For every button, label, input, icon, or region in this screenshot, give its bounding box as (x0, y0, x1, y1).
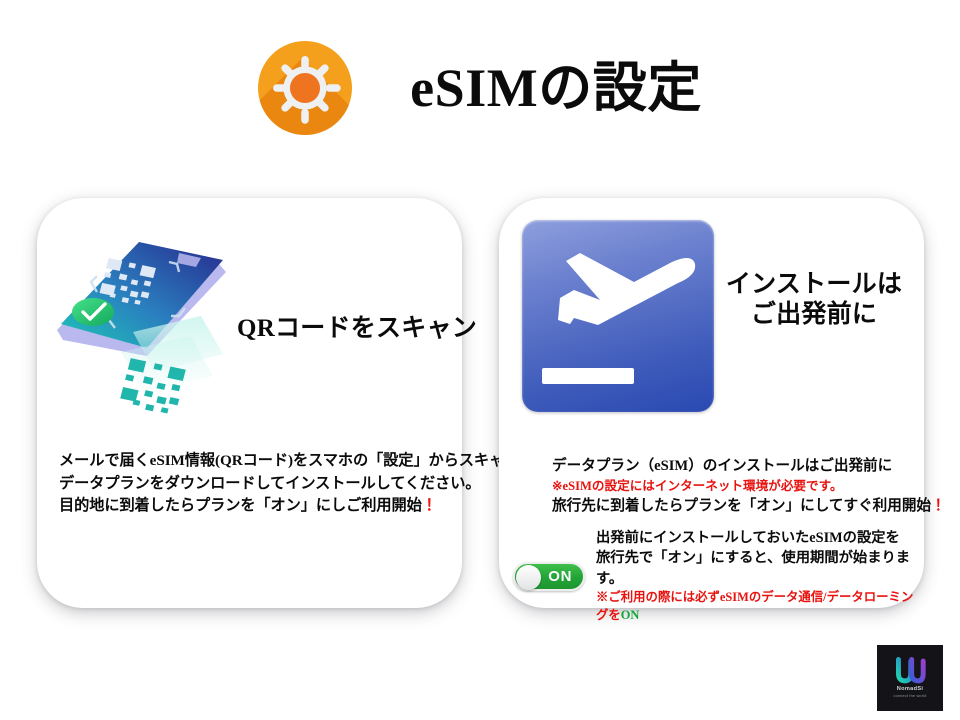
toggle-description-line-1: 出発前にインストールしておいたeSIMの設定を (596, 528, 918, 548)
brand-logo-mark (893, 657, 927, 685)
card-qr-scan-body-line-1: メールで届くeSIM情報(QRコード)をスマホの「設定」からスキャンし、 (59, 450, 459, 473)
card-qr-scan-top: QRコードをスキャン (37, 198, 462, 450)
slide-header: eSIMの設定 (0, 32, 960, 144)
brand-logo-name: NomadSi (897, 687, 924, 693)
card-qr-scan-heading: QRコードをスキャン (237, 314, 457, 344)
card-install-body-line-3: 旅行先に到着したらプランを「オン」にしてすぐ利用開始！ (552, 496, 922, 517)
card-qr-scan-body-line-3: 目的地に到着したらプランを「オン」にしご利用開始！ (59, 495, 459, 518)
card-install-top: インストールは ご出発前に (499, 198, 924, 450)
card-qr-scan-body-line-3-text: 目的地に到着したらプランを「オン」にしご利用開始 (59, 497, 422, 514)
toggle-description-note-text: ※ご利用の際には必ずeSIMのデータ通信/データローミングを (596, 590, 913, 622)
card-install-body-line-3-text: 旅行先に到着したらプランを「オン」にしてすぐ利用開始 (552, 498, 931, 514)
page-title: eSIMの設定 (410, 61, 702, 115)
toggle-description-line-2: 旅行先で「オン」にすると、使用期間が始まります。 (596, 548, 918, 589)
phone-scanning-qr-illustration (51, 220, 266, 425)
card-install-body-line-1: データプラン（eSIM）のインストールはご出発前に (552, 456, 922, 477)
departing-airplane-icon (522, 220, 714, 412)
departing-airplane-glyph (522, 220, 714, 412)
brand-logo: NomadSi connect the world (877, 645, 943, 711)
card-qr-scan: QRコードをスキャン メールで届くeSIM情報(QRコード)をスマホの「設定」か… (37, 198, 462, 608)
toggle-description: 出発前にインストールしておいたeSIMの設定を 旅行先で「オン」にすると、使用期… (596, 528, 918, 624)
exclamation-mark: ！ (931, 498, 946, 514)
card-install-heading-line-1: インストールは (709, 270, 919, 300)
card-install-body: データプラン（eSIM）のインストールはご出発前に ※eSIMの設定にはインター… (552, 456, 922, 516)
card-install-heading: インストールは ご出発前に (709, 270, 919, 330)
card-qr-scan-body: メールで届くeSIM情報(QRコード)をスマホの「設定」からスキャンし、 データ… (59, 450, 459, 518)
card-install-heading-line-2: ご出発前に (709, 300, 919, 330)
card-install-before-departure: インストールは ご出発前に データプラン（eSIM）のインストールはご出発前に … (499, 198, 924, 608)
esim-on-toggle[interactable]: ON (513, 562, 585, 591)
toggle-row: ON 出発前にインストールしておいたeSIMの設定を 旅行先で「オン」にすると、… (513, 528, 918, 624)
toggle-description-note: ※ご利用の際には必ずeSIMのデータ通信/データローミングをON (596, 589, 918, 624)
toggle-knob[interactable] (516, 565, 541, 590)
toggle-description-note-on: ON (621, 608, 640, 622)
card-install-body-note: ※eSIMの設定にはインターネット環境が必要です。 (552, 477, 922, 496)
toggle-on-label: ON (548, 569, 572, 584)
card-qr-scan-body-line-2: データプランをダウンロードしてインストールしてください。 (59, 473, 459, 496)
gear-icon (258, 41, 352, 135)
exclamation-mark: ！ (422, 497, 437, 514)
phone-scanning-qr-graphic (51, 220, 266, 425)
gear-icon-glyph (258, 41, 352, 135)
brand-logo-tagline: connect the world (894, 695, 927, 699)
